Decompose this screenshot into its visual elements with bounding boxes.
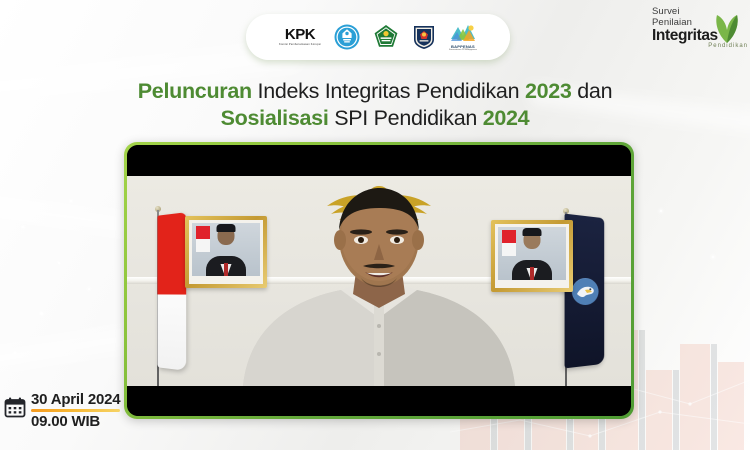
indonesian-flag — [157, 212, 186, 371]
title-text-spi: SPI Pendidikan — [334, 106, 477, 130]
leaf-check-icon — [710, 12, 744, 46]
kemendikbud-logo — [334, 20, 360, 54]
kemendagri-logo — [412, 20, 436, 54]
calendar-icon — [4, 396, 26, 418]
title-text-indeks: Indeks Integritas Pendidikan — [258, 79, 520, 103]
video-scene — [127, 176, 631, 386]
title-highlight-2024: 2024 — [483, 106, 530, 130]
letterbox-bottom — [127, 386, 631, 416]
bappenas-logo: BAPPENAS Kementerian PPN/Bappenas — [449, 20, 477, 54]
partner-logo-bar: KPK Komisi Pemberantasan Korupsi — [246, 14, 510, 60]
event-date: 30 April 2024 — [31, 392, 120, 408]
sparkle-dot — [712, 256, 714, 258]
video-screen[interactable] — [127, 145, 631, 416]
kpk-logo: KPK Komisi Pemberantasan Korupsi — [279, 20, 321, 54]
video-player[interactable] — [124, 142, 634, 419]
sparkle-dot — [660, 210, 662, 212]
kemenag-logo — [373, 20, 399, 54]
event-time: 09.00 WIB — [31, 414, 120, 429]
sparkle-dot — [22, 226, 24, 228]
sparkle-dot — [58, 262, 60, 264]
poster-stage: KPK Komisi Pemberantasan Korupsi — [0, 0, 750, 450]
title-highlight-sosialisasi: Sosialisasi — [221, 106, 329, 130]
sparkle-dot — [88, 288, 90, 290]
kpk-sublabel: Komisi Pemberantasan Korupsi — [279, 44, 321, 47]
sparkle-dot — [70, 200, 72, 202]
sparkle-dot — [40, 312, 43, 315]
event-schedule: 30 April 2024 09.00 WIB — [4, 392, 120, 429]
title-text-dan: dan — [577, 79, 612, 103]
title-line-1: Peluncuran Indeks Integritas Pendidikan … — [0, 78, 750, 105]
page-title: Peluncuran Indeks Integritas Pendidikan … — [0, 78, 750, 132]
date-underline — [31, 409, 120, 412]
title-line-2: Sosialisasi SPI Pendidikan 2024 — [0, 105, 750, 132]
speaker-figure — [229, 186, 529, 386]
sparkle-dot — [14, 352, 16, 354]
title-highlight-peluncuran: Peluncuran — [138, 79, 252, 103]
spi-badge: Survei Penilaian Integritas Pendidikan — [652, 6, 748, 64]
title-highlight-2023: 2023 — [525, 79, 572, 103]
letterbox-top — [127, 145, 631, 176]
kpk-wordmark: KPK — [285, 27, 315, 42]
ministry-flag-emblem — [571, 277, 598, 305]
